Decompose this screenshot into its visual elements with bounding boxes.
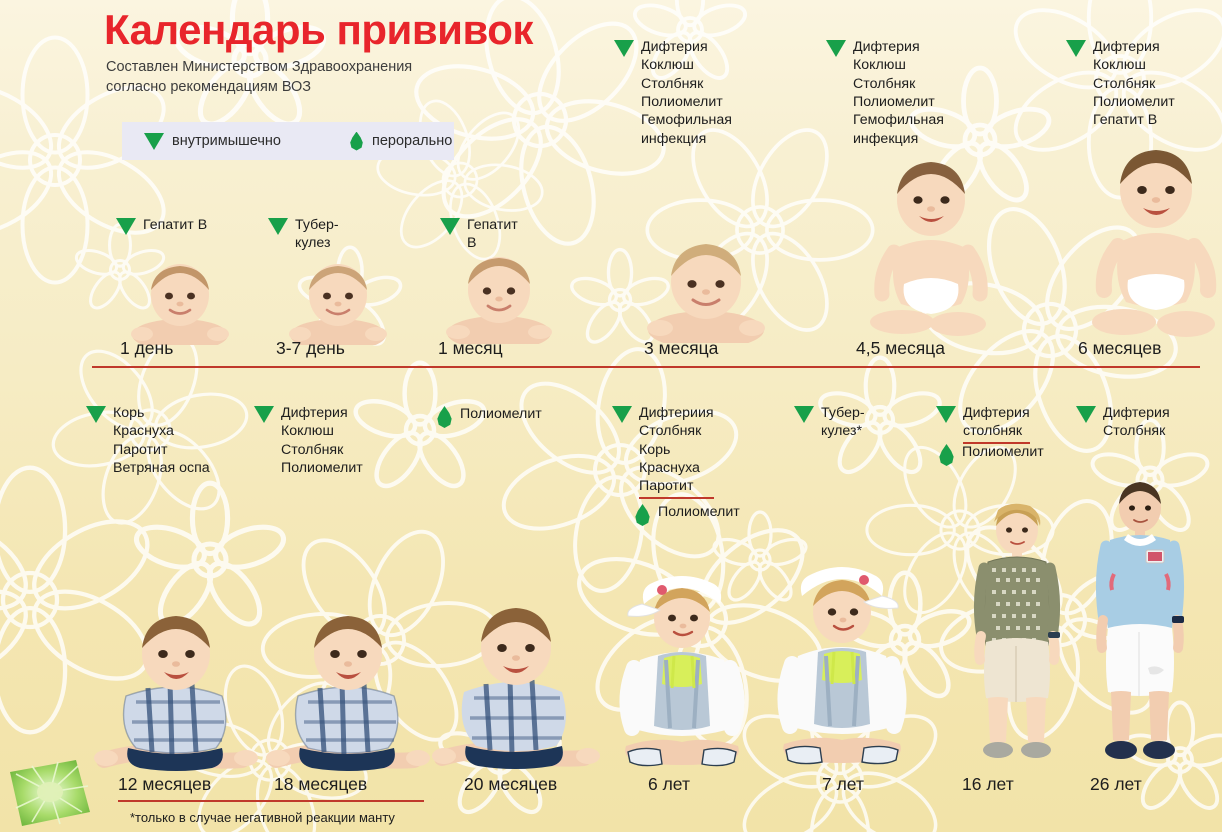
triangle-icon [826, 40, 846, 57]
vaccine-list: Дифтерия Коклюш Столбняк Полиомелит Гемо… [641, 38, 732, 148]
vaccine-list: Дифтериия Столбняк Корь Краснуха Паротит [639, 404, 714, 499]
age-label-18-months: 18 месяцев [274, 774, 367, 795]
baby-figure-3-months [636, 238, 776, 343]
triangle-icon [268, 218, 288, 235]
legend-label-oral: перорально [372, 133, 452, 149]
vaccine-list: Дифтерия столбняк [963, 404, 1030, 444]
baby-figure-4-5-months [866, 152, 996, 342]
toddler-figure-18-months [264, 610, 434, 772]
vaccine-block-3-7-day: Тубер- кулез [268, 216, 339, 253]
vaccine-list: Полиомелит [962, 443, 1044, 461]
age-label-1-month: 1 месяц [438, 338, 503, 359]
age-label-3-months: 3 месяца [644, 338, 718, 359]
page-title: Календарь прививок [104, 6, 533, 54]
drop-icon [349, 132, 364, 151]
vaccine-list: Дифтерия Коклюш Столбняк Полиомелит [281, 404, 363, 477]
drop-icon [938, 444, 955, 466]
vaccine-list: Дифтерия Коклюш Столбняк Полиомелит Гепа… [1093, 38, 1175, 130]
triangle-icon [116, 218, 136, 235]
vaccine-block-7-years: Тубер- кулез* [794, 404, 865, 441]
vaccine-block-6-years-im: Дифтериия Столбняк Корь Краснуха Паротит [612, 404, 714, 499]
vaccine-block-18-months: Дифтерия Коклюш Столбняк Полиомелит [254, 404, 363, 477]
footnote: *только в случае негативной реакции мант… [130, 810, 395, 825]
baby-figure-3-7-day [278, 260, 398, 345]
gift-image [2, 756, 94, 832]
baby-figure-1-month [436, 252, 562, 344]
triangle-icon [1076, 406, 1096, 423]
vaccine-block-6-months: Дифтерия Коклюш Столбняк Полиомелит Гепа… [1066, 38, 1175, 130]
vaccine-list: Дифтерия Коклюш Столбняк Полиомелит Гемо… [853, 38, 944, 148]
age-label-20-months: 20 месяцев [464, 774, 557, 795]
triangle-icon [1066, 40, 1086, 57]
legend-item-intramuscular: внутримышечно [144, 133, 281, 150]
age-label-4-5-months: 4,5 месяца [856, 338, 945, 359]
drop-icon [436, 406, 453, 428]
vaccination-calendar-poster: Календарь прививок Составлен Министерств… [0, 0, 1222, 832]
legend-label-intramuscular: внутримышечно [172, 133, 281, 149]
vaccine-list: Полиомелит [658, 503, 740, 521]
child-figure-6-years [606, 560, 758, 772]
vaccine-block-12-months: Корь Краснуха Паротит Ветряная оспа [86, 404, 210, 477]
age-label-3-7-day: 3-7 день [276, 338, 345, 359]
teen-figure-16-years [962, 498, 1072, 778]
vaccine-block-16-years-im: Дифтерия столбняк [936, 404, 1030, 444]
age-label-1-day: 1 день [120, 338, 173, 359]
vaccine-list: Тубер- кулез* [821, 404, 865, 441]
vaccine-block-6-years-oral: Полиомелит [634, 503, 740, 526]
vaccine-list: Гепатит В [143, 216, 207, 234]
toddler-figure-12-months [92, 610, 262, 772]
drop-icon [634, 504, 651, 526]
triangle-icon [794, 406, 814, 423]
baby-figure-6-months [1090, 140, 1222, 342]
legend: внутримышечно перорально [122, 122, 454, 160]
age-label-12-months: 12 месяцев [118, 774, 211, 795]
triangle-icon [614, 40, 634, 57]
page-subtitle: Составлен Министерством Здравоохранения … [106, 58, 412, 97]
triangle-icon [254, 406, 274, 423]
vaccine-list: Тубер- кулез [295, 216, 339, 253]
age-label-16-years: 16 лет [962, 774, 1014, 795]
age-label-6-years: 6 лет [648, 774, 690, 795]
toddler-figure-20-months [430, 602, 602, 772]
age-label-7-years: 7 лет [822, 774, 864, 795]
vaccine-list: Гепатит В [467, 216, 518, 253]
adult-figure-26-years [1084, 478, 1196, 778]
legend-item-oral: перорально [349, 132, 452, 151]
triangle-icon [936, 406, 956, 423]
baby-figure-1-day [120, 260, 240, 345]
triangle-icon [440, 218, 460, 235]
vaccine-block-4-5-months: Дифтерия Коклюш Столбняк Полиомелит Гемо… [826, 38, 944, 148]
vaccine-block-1-day: Гепатит В [116, 216, 207, 235]
triangle-icon [86, 406, 106, 423]
vaccine-block-1-month: Гепатит В [440, 216, 518, 253]
child-figure-7-years [764, 552, 920, 772]
triangle-icon [612, 406, 632, 423]
divider-row1 [92, 366, 1200, 368]
divider-row2 [118, 800, 424, 802]
vaccine-block-26-years: Дифтерия Столбняк [1076, 404, 1170, 441]
vaccine-block-3-months: Дифтерия Коклюш Столбняк Полиомелит Гемо… [614, 38, 732, 148]
age-label-26-years: 26 лет [1090, 774, 1142, 795]
vaccine-list: Полиомелит [460, 405, 542, 423]
vaccine-block-20-months: Полиомелит [436, 405, 542, 428]
vaccine-block-16-years-oral: Полиомелит [938, 443, 1044, 466]
age-label-6-months: 6 месяцев [1078, 338, 1161, 359]
triangle-icon [144, 133, 164, 150]
vaccine-list: Корь Краснуха Паротит Ветряная оспа [113, 404, 210, 477]
vaccine-list: Дифтерия Столбняк [1103, 404, 1170, 441]
